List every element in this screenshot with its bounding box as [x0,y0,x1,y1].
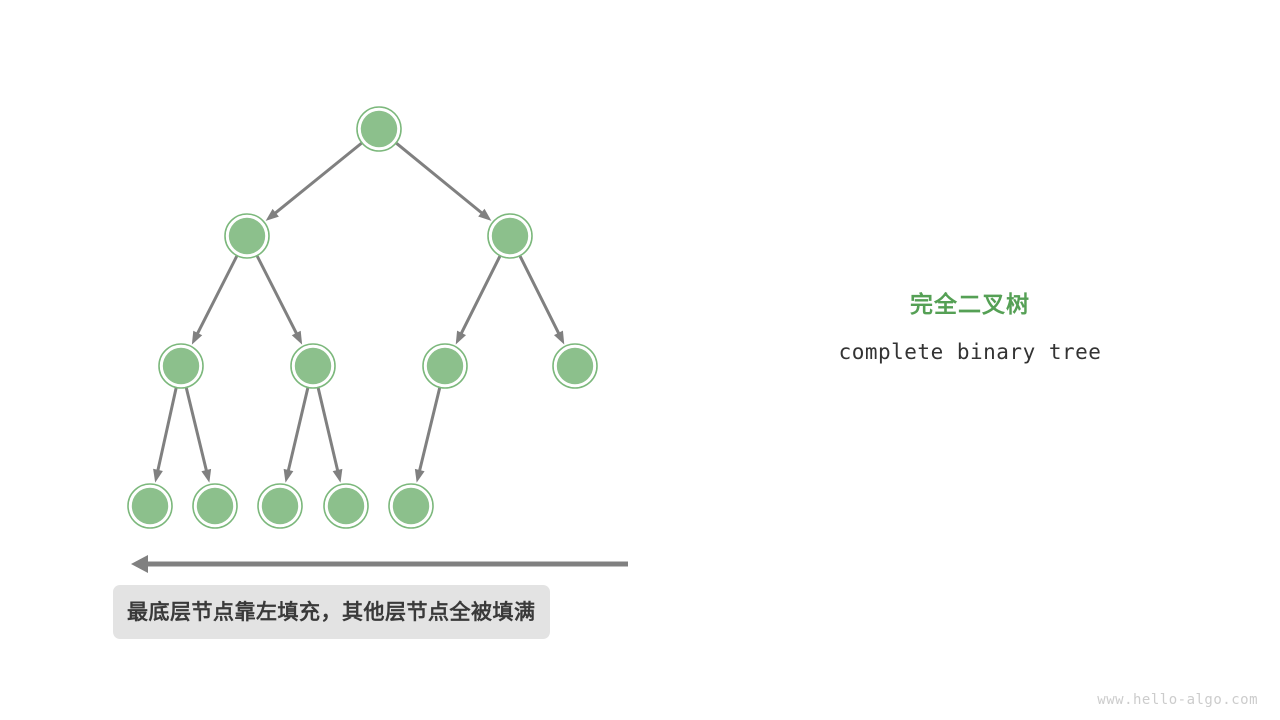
legend: 完全二叉树 complete binary tree [780,290,1160,364]
tree-node[interactable] [357,107,401,151]
tree-edge [415,388,440,482]
tree-node[interactable] [128,484,172,528]
tree-node[interactable] [553,344,597,388]
legend-subtitle: complete binary tree [780,340,1160,364]
edge-arrowhead [333,469,343,483]
tree-node[interactable] [488,214,532,258]
tree-edge [153,388,176,482]
edge-arrowhead [201,469,211,483]
tree-edge [266,143,361,220]
tree-edge [397,144,492,221]
tree-edge [186,388,211,482]
tree-node-layer [128,107,597,528]
watermark: www.hello-algo.com [1097,692,1258,708]
tree-node[interactable] [291,344,335,388]
tree-edge [257,257,302,345]
tree-node[interactable] [193,484,237,528]
tree-node[interactable] [225,214,269,258]
tree-edge [456,257,500,345]
tree-node[interactable] [324,484,368,528]
tree-node[interactable] [423,344,467,388]
tree-node[interactable] [389,484,433,528]
edge-arrowhead [192,331,202,345]
tree-edge [192,257,237,345]
tree-edge [520,257,564,345]
tree-edge [284,388,308,482]
tree-edge [318,388,342,482]
caption-label: 最底层节点靠左填充，其他层节点全被填满 [113,585,550,639]
tree-edge-layer [153,143,564,482]
legend-title: 完全二叉树 [780,290,1160,320]
fill-direction-arrow-shape [131,555,628,573]
fill-direction-arrow [131,555,628,573]
edge-arrowhead [415,469,425,483]
edge-arrowhead [292,331,302,345]
edge-arrowhead [456,331,466,345]
edge-arrowhead [554,331,564,345]
tree-node[interactable] [258,484,302,528]
edge-arrowhead [153,469,163,483]
edge-arrowhead [284,469,294,483]
tree-node[interactable] [159,344,203,388]
